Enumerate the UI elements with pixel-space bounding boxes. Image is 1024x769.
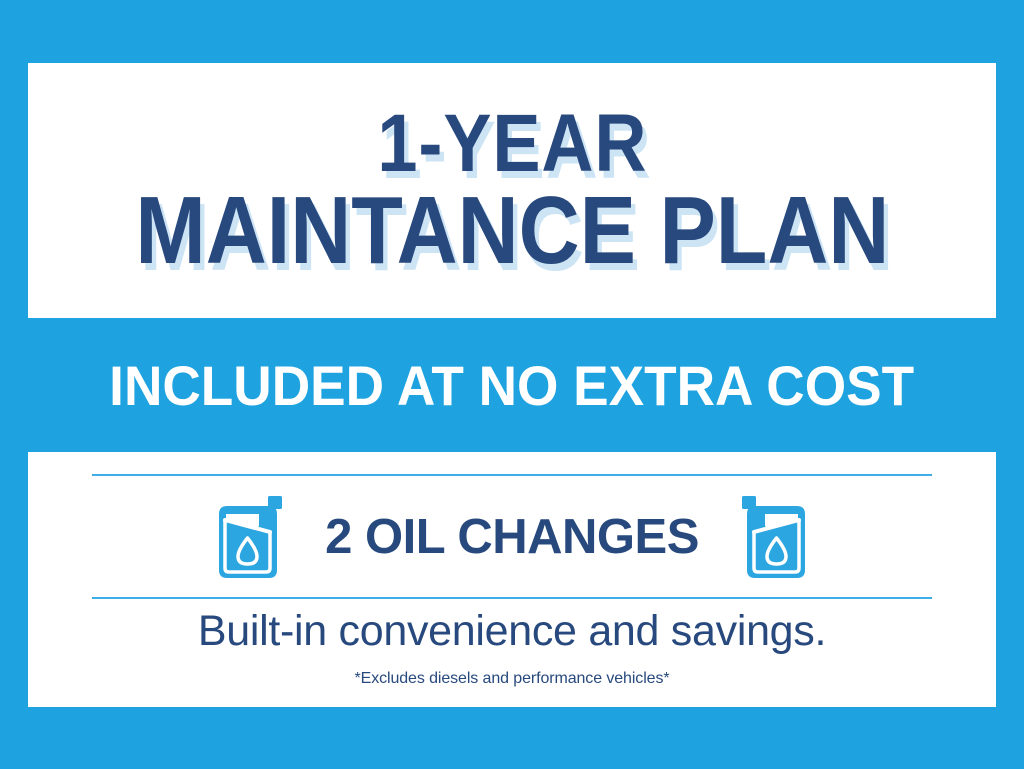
offer-row: 2 OIL CHANGES	[28, 476, 996, 597]
headline-line-1: 1-YEAR	[377, 105, 647, 182]
oil-jug-icon	[213, 494, 285, 580]
subheading-text: INCLUDED AT NO EXTRA COST	[110, 353, 915, 418]
headline-panel: 1-YEAR MAINTANCE PLAN	[28, 63, 996, 318]
tagline-text: Built-in convenience and savings.	[28, 607, 996, 656]
offer-label: 2 OIL CHANGES	[325, 509, 699, 565]
subheading-band: INCLUDED AT NO EXTRA COST	[0, 318, 1024, 452]
headline-line-2: MAINTANCE PLAN	[135, 186, 889, 276]
promo-poster: 1-YEAR MAINTANCE PLAN INCLUDED AT NO EXT…	[0, 0, 1024, 769]
oil-jug-icon	[739, 494, 811, 580]
divider-bottom	[92, 597, 932, 599]
offer-panel: 2 OIL CHANGES Built-in convenience and s…	[28, 452, 996, 707]
footnote-text: *Excludes diesels and performance vehicl…	[28, 670, 996, 688]
